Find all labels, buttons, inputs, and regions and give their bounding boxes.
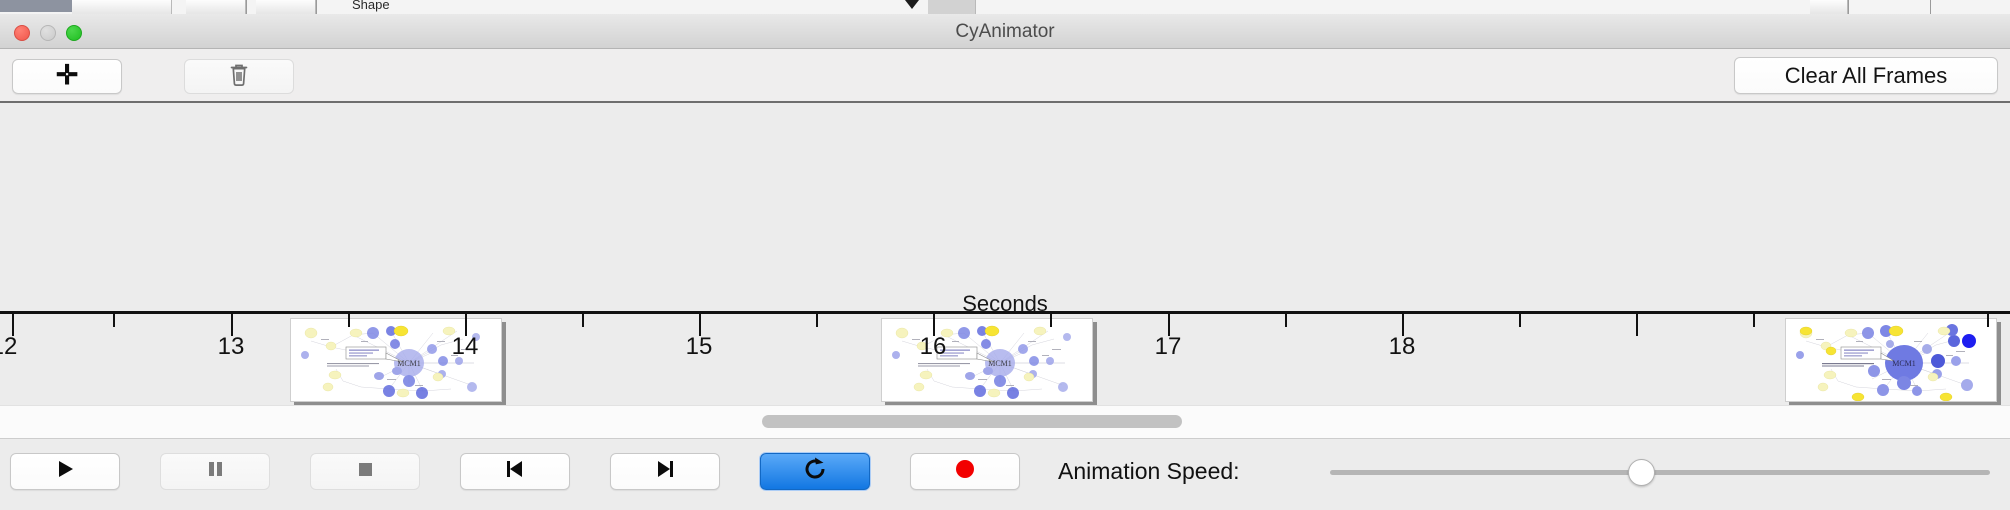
animation-speed-label: Animation Speed: <box>1058 453 1240 490</box>
plus-icon: ✛ <box>56 62 79 89</box>
close-button[interactable] <box>14 25 30 41</box>
background-app-word: Shape <box>352 0 390 12</box>
cyanimator-window: Shape CyAnimator ✛ <box>0 0 2010 510</box>
slider-thumb[interactable] <box>1628 459 1655 486</box>
trash-icon <box>228 62 250 91</box>
background-tab-fragment <box>72 0 172 14</box>
clear-all-frames-button[interactable]: Clear All Frames <box>1734 57 1998 94</box>
skip-end-icon <box>653 457 677 486</box>
background-tab-fragment <box>928 0 976 14</box>
timeline-tick-label: 14 <box>452 333 479 361</box>
timeline-tick-label: 12 <box>0 333 17 361</box>
background-sidebar-fragment <box>0 0 72 12</box>
clear-all-frames-label: Clear All Frames <box>1785 63 1948 89</box>
titlebar: CyAnimator <box>0 14 2010 49</box>
background-divider <box>246 0 247 14</box>
window-title: CyAnimator <box>0 14 2010 49</box>
timeline-axis-title: Seconds <box>0 291 2010 317</box>
skip-start-button[interactable] <box>460 453 570 490</box>
timeline-major-tick <box>1636 314 1638 336</box>
timeline-frame-thumbnail[interactable]: MCM1 <box>881 318 1093 402</box>
background-app-strip: Shape <box>0 0 2010 14</box>
minimize-button[interactable] <box>40 25 56 41</box>
stop-icon <box>353 457 377 486</box>
background-tab-fragment <box>256 0 316 14</box>
stop-button[interactable] <box>310 453 420 490</box>
background-cursor-fragment <box>905 0 919 9</box>
timeline-tick-label: 18 <box>1389 333 1416 361</box>
scrollbar-thumb[interactable] <box>762 415 1182 428</box>
timeline-tick-label: 13 <box>218 333 245 361</box>
timeline-tick-label: 16 <box>920 333 947 361</box>
playback-control-bar: Animation Speed: <box>0 438 2010 510</box>
maximize-button[interactable] <box>66 25 82 41</box>
slider-track[interactable] <box>1330 470 1990 475</box>
background-divider <box>1848 0 1849 14</box>
delete-frame-button[interactable] <box>184 59 294 94</box>
timeline-panel[interactable]: MCM1 <box>0 105 2010 405</box>
timeline-tick-label: 17 <box>1155 333 1182 361</box>
svg-text:MCM1: MCM1 <box>1892 359 1916 368</box>
svg-text:MCM1: MCM1 <box>988 359 1012 368</box>
pause-icon <box>203 457 227 486</box>
loop-icon <box>802 456 828 487</box>
loop-button[interactable] <box>760 453 870 490</box>
window-controls <box>14 25 82 41</box>
timeline-horizontal-scrollbar[interactable] <box>0 405 2010 438</box>
play-icon <box>53 457 77 486</box>
record-button[interactable] <box>910 453 1020 490</box>
background-divider <box>1930 0 1931 14</box>
background-divider <box>316 0 317 14</box>
animation-speed-slider[interactable] <box>1330 453 1990 490</box>
record-icon <box>953 457 977 486</box>
pause-button[interactable] <box>160 453 270 490</box>
background-tab-fragment <box>186 0 246 14</box>
skip-end-button[interactable] <box>610 453 720 490</box>
toolbar: ✛ Clear All Frames <box>0 49 2010 103</box>
svg-text:MCM1: MCM1 <box>397 359 421 368</box>
background-tab-fragment <box>1810 0 1848 14</box>
timeline-tick-label: 15 <box>686 333 713 361</box>
skip-start-icon <box>503 457 527 486</box>
add-frame-button[interactable]: ✛ <box>12 59 122 94</box>
timeline-frame-thumbnail[interactable]: MCM1 <box>1785 318 1997 402</box>
play-button[interactable] <box>10 453 120 490</box>
